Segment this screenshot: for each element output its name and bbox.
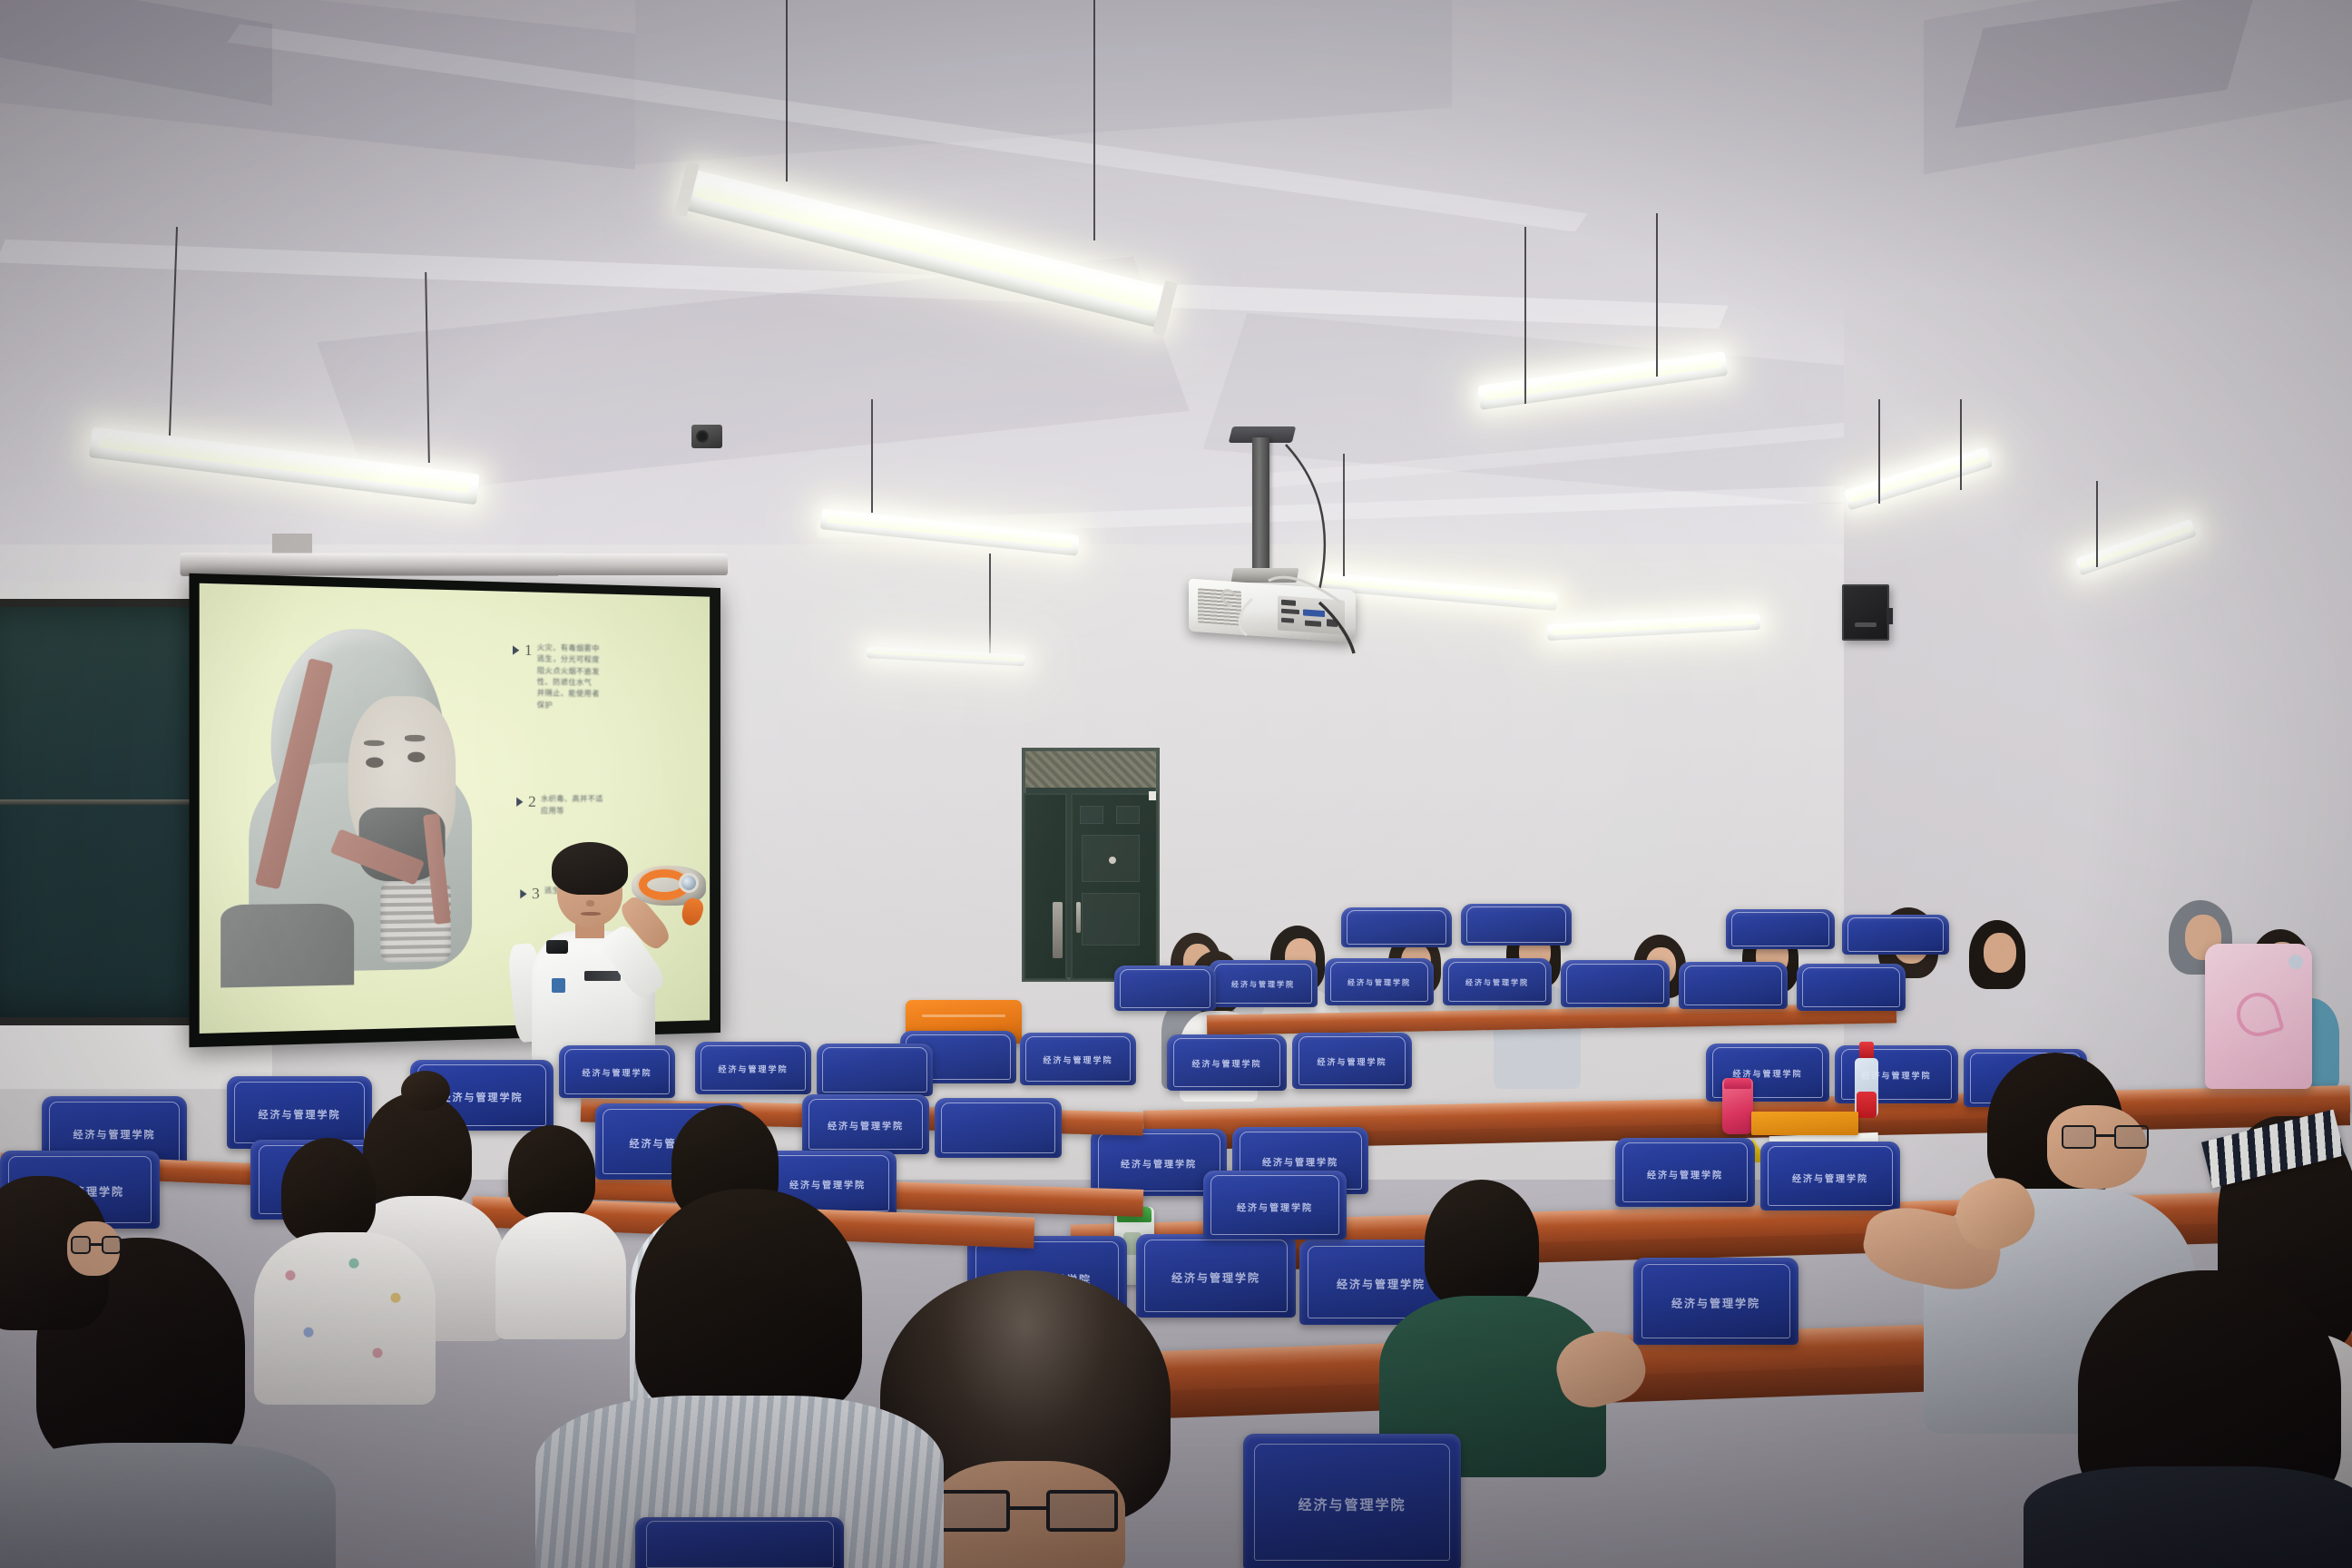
door-peephole-icon — [1109, 857, 1116, 864]
pink-backpack[interactable] — [2205, 944, 2312, 1089]
screen-roller-casing — [180, 553, 728, 576]
seat[interactable]: 经济与管理学院 — [1209, 960, 1318, 1007]
light-cable — [1524, 227, 1526, 404]
light-cable — [1878, 399, 1880, 504]
projector-cables-icon — [1181, 425, 1372, 652]
bullet-marker-icon — [516, 798, 523, 807]
seat[interactable] — [1726, 909, 1835, 949]
seat[interactable] — [1561, 960, 1670, 1007]
light-cable — [1960, 399, 1962, 490]
rear-double-door[interactable] — [1022, 748, 1160, 982]
door-leaf-left[interactable] — [1024, 793, 1067, 980]
escape-hood-visor-icon — [679, 873, 699, 893]
door-transom-window — [1025, 751, 1156, 788]
audience-foreground-right — [2024, 1270, 2352, 1568]
presenter-hair — [552, 842, 628, 895]
audience-green-polo — [1379, 1180, 1651, 1470]
seat[interactable]: 经济与管理学院 — [1633, 1258, 1798, 1345]
door-switch-icon[interactable] — [1149, 791, 1156, 800]
light-cable — [1656, 213, 1658, 377]
seat[interactable] — [635, 1517, 844, 1568]
audience-foreground-striped — [535, 1189, 953, 1568]
seat[interactable] — [1461, 904, 1572, 946]
seat[interactable]: 经济与管理学院 — [1292, 1033, 1412, 1089]
eyeglasses-icon — [938, 1490, 1118, 1532]
light-cable — [989, 554, 991, 653]
seat[interactable]: 经济与管理学院 — [1325, 958, 1434, 1005]
light-cable — [786, 0, 788, 181]
eyeglasses-icon — [2062, 1125, 2149, 1149]
seat[interactable]: 经济与管理学院 — [1203, 1171, 1347, 1240]
audience-foreground-farleft — [0, 1176, 154, 1357]
light-cable — [871, 399, 873, 513]
bullet-number: 1 — [524, 642, 533, 658]
orange-book[interactable] — [1751, 1112, 1858, 1135]
presenter-shoulder-patch — [552, 978, 565, 993]
bullet-marker-icon — [513, 645, 519, 654]
presenter-fire-safety-officer — [505, 842, 677, 1069]
thermos-cup-pink[interactable] — [1722, 1078, 1753, 1134]
ceiling-projector — [1181, 425, 1372, 652]
seat[interactable] — [1341, 907, 1452, 947]
light-cable — [1093, 0, 1095, 240]
presenter-name-badge — [584, 971, 621, 981]
bullet-text: 水织毒、高并不适 应用等 — [541, 794, 603, 817]
epaulette-left — [546, 940, 568, 954]
seat[interactable]: 经济与管理学院 — [1443, 958, 1552, 1005]
eyeglasses-icon — [71, 1236, 122, 1254]
lecture-hall-photo: 1 火灾、有毒烟雾中 逃生，分光可程度 阻火点火烟不逾发 性、防遮住水气 并隔止… — [0, 0, 2352, 1568]
light-cable — [2096, 481, 2098, 567]
seat[interactable]: 经济与管理学院 — [1243, 1434, 1461, 1568]
seat[interactable] — [1842, 915, 1949, 955]
seat[interactable] — [1679, 962, 1788, 1009]
bullet-number: 2 — [528, 794, 536, 809]
door-leaf-right[interactable] — [1071, 793, 1158, 980]
ceiling-camera-icon — [691, 425, 722, 448]
wall-speaker — [1842, 584, 1889, 641]
seat[interactable] — [1114, 965, 1216, 1011]
escape-hood-demo-item — [632, 862, 706, 916]
slide-bullet-2: 2 水织毒、高并不适 应用等 — [516, 794, 603, 817]
slide-photo-smoke-hood — [221, 611, 494, 988]
seat[interactable]: 经济与管理学院 — [1167, 1034, 1287, 1091]
seat[interactable] — [1797, 964, 1906, 1011]
bullet-text: 火灾、有毒烟雾中 逃生，分光可程度 阻火点火烟不逾发 性、防遮住水气 并隔止、能… — [537, 642, 600, 712]
slide-bullet-1: 1 火灾、有毒烟雾中 逃生，分光可程度 阻火点火烟不逾发 性、防遮住水气 并隔止… — [513, 642, 599, 711]
